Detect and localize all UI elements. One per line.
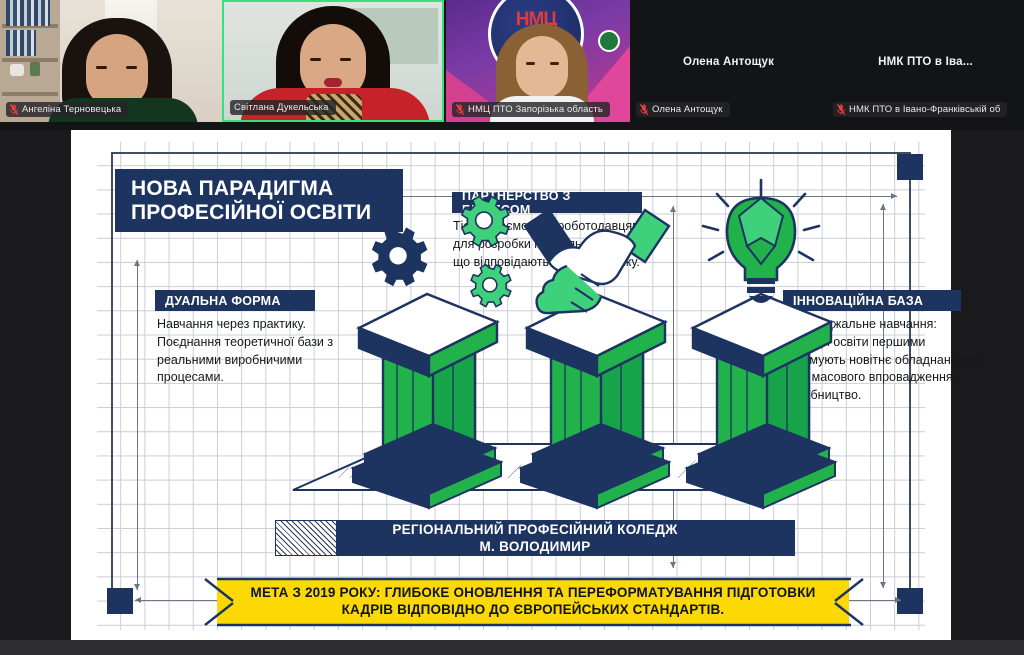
participant-name-1: Ангеліна Терновецька [22,104,121,115]
participant-name-2: Світлана Дукельська [234,102,329,113]
plinth-label-line-2: М. ВОЛОДИМИР [480,539,591,556]
slide-title-line-2: ПРОФЕСІЙНОЇ ОСВІТИ [131,201,403,225]
card-body-dual-form: Навчання через практику. Поєднання теоре… [157,316,337,387]
participant-tile-4[interactable]: Олена Антощук Олена Антощук [630,0,827,122]
participant-tile-2[interactable]: Світлана Дукельська [222,0,444,122]
participant-name-3: НМЦ ПТО Запорізька область [468,104,603,115]
participant-tile-5[interactable]: НМК ПТО в Іва... НМК ПТО в Івано-Франків… [827,0,1024,122]
ground-platform [293,444,797,490]
card-body-partnership: Тісна взаємодія з роботодавцями для розр… [453,218,663,271]
slide-title-line-1: НОВА ПАРАДИГМА [131,177,403,201]
card-body-innovation-base: Випереджальне навчання: заклади освіти п… [783,316,983,405]
dimension-arrow-left-vert [137,260,138,590]
participant-name-4: Олена Антощук [652,104,723,115]
mic-muted-icon [10,104,18,115]
goal-line-1: МЕТА З 2019 РОКУ: ГЛИБОКЕ ОНОВЛЕННЯ ТА П… [251,585,816,602]
participant-name-badge-2: Світлана Дукельська [230,100,336,115]
dimension-arrow-center-vert [673,206,674,568]
video-conference-strip: Ангеліна Терновецька Світлана Дукельська… [0,0,1024,130]
os-taskbar[interactable] [0,640,1024,655]
lightbulb-icon [703,180,819,303]
corner-square-top-right [897,154,923,180]
participant-name-5: НМК ПТО в Івано-Франківській об [849,104,1000,115]
mic-muted-icon [456,104,464,115]
slide-grid-canvas: НОВА ПАРАДИГМА ПРОФЕСІЙНОЇ ОСВІТИ ПАРТНЕ… [97,142,925,630]
card-header-dual-form: ДУАЛЬНА ФОРМА [155,290,315,311]
participant-tile-1[interactable]: Ангеліна Терновецька [0,0,222,122]
plinth-label-line-1: РЕГІОНАЛЬНИЙ ПРОФЕСІЙНИЙ КОЛЕДЖ [392,522,677,539]
participant-name-badge-3: НМЦ ПТО Запорізька область [452,102,610,117]
frame-line-left [111,152,113,614]
participant-center-name-5: НМК ПТО в Іва... [827,56,1024,68]
participant-name-badge-1: Ангеліна Терновецька [6,102,128,117]
participant-name-badge-4: Олена Антощук [636,102,730,117]
plinth-label: РЕГІОНАЛЬНИЙ ПРОФЕСІЙНИЙ КОЛЕДЖ М. ВОЛОД… [275,522,795,556]
card-header-partnership: ПАРТНЕРСТВО З БІЗНЕСОМ [452,192,642,213]
card-header-innovation-base: ІННОВАЦІЙНА БАЗА [783,290,961,311]
shared-screen-slide[interactable]: НОВА ПАРАДИГМА ПРОФЕСІЙНОЇ ОСВІТИ ПАРТНЕ… [71,130,951,640]
mic-muted-icon [640,104,648,115]
goal-banner: МЕТА З 2019 РОКУ: ГЛИБОКЕ ОНОВЛЕННЯ ТА П… [217,579,849,625]
pillar-dual-form [353,294,501,508]
frame-line-top [111,152,911,154]
goal-line-2: КАДРІВ ВІДПОВІДНО ДО ЄВРОПЕЙСЬКИХ СТАНДА… [342,602,725,619]
participant-tile-3[interactable]: НМЦ НМЦ ПТО Запорізька область [446,0,630,122]
participant-name-badge-5: НМК ПТО в Івано-Франківській об [833,102,1007,117]
participant-center-name-4: Олена Антощук [630,56,827,68]
pillar-partnership [521,294,669,508]
slide-title: НОВА ПАРАДИГМА ПРОФЕСІЙНОЇ ОСВІТИ [115,169,403,232]
corner-square-bottom-left [107,588,133,614]
mic-muted-icon [837,104,845,115]
